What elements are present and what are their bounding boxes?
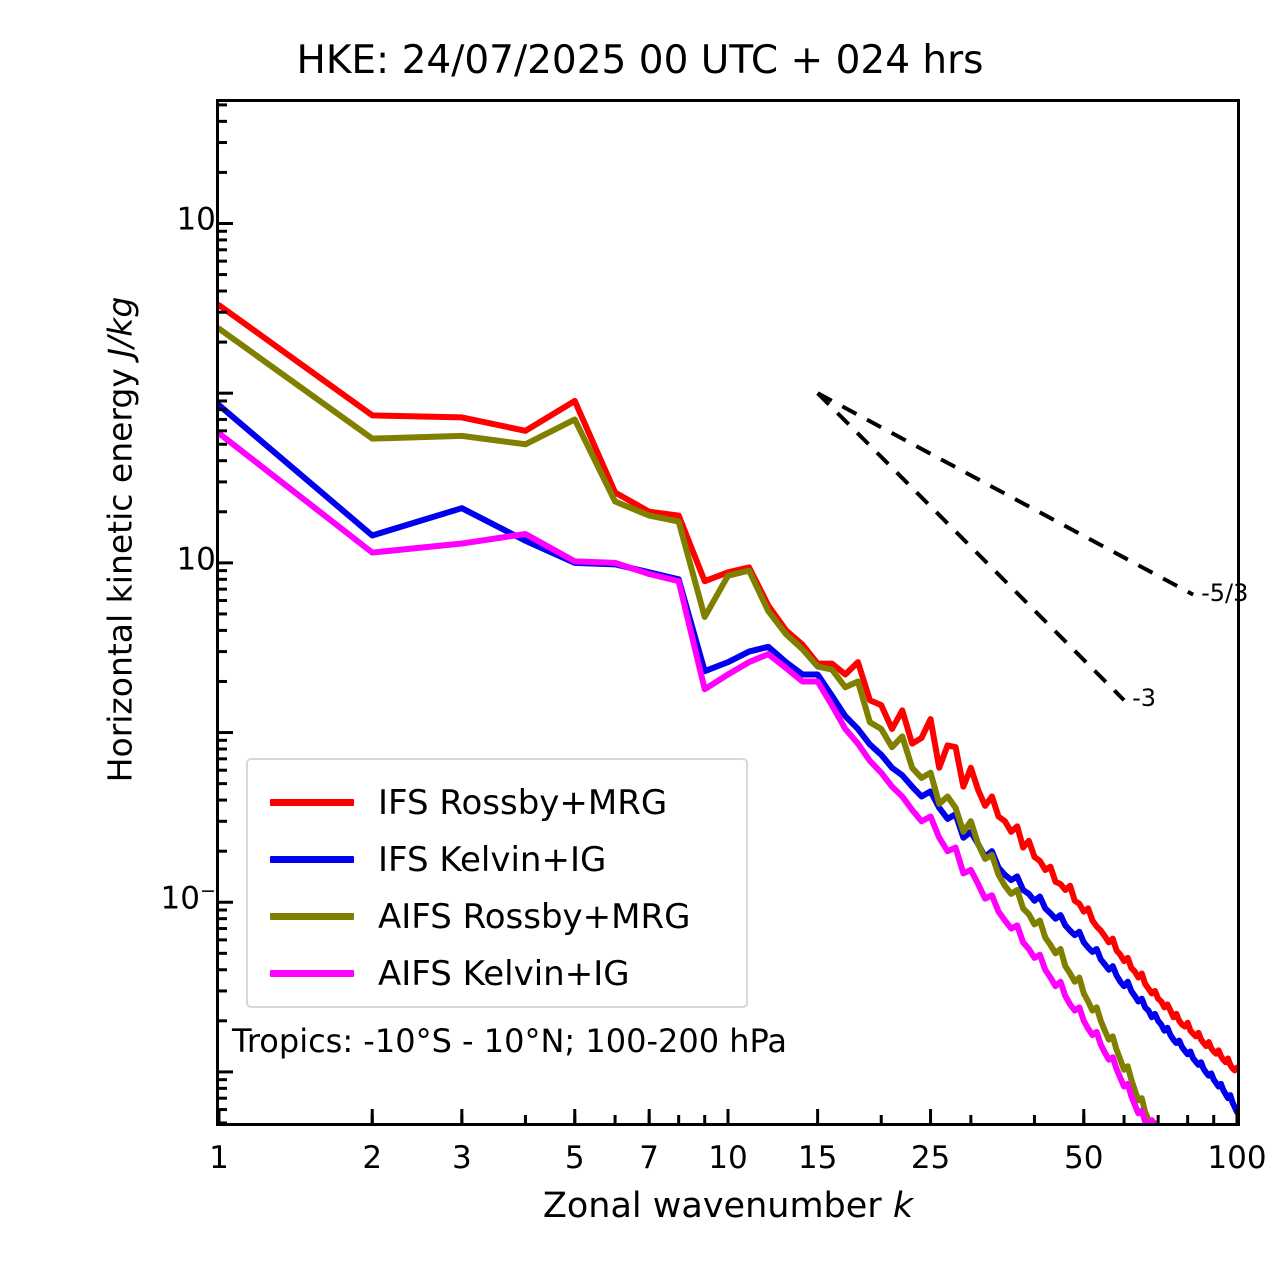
reference-line-1 [818,393,1124,700]
legend-swatch-aifs-rossby-mrg [270,913,354,920]
x-tick-label-3: 5 [540,1140,610,1176]
legend-item-1: IFS Kelvin+IG [248,831,746,888]
slope-label--3: -3 [1132,684,1156,712]
legend-item-3: AIFS Kelvin+IG [248,945,746,1002]
region-annotation: Tropics: -10°S - 10°N; 100-200 hPa [232,1022,787,1060]
x-axis-label: Zonal wavenumber k [216,1186,1240,1226]
x-tick-label-5: 10 [693,1140,763,1176]
chart-title: HKE: 24/07/2025 00 UTC + 024 hrs [0,38,1280,83]
y-axis-label-text: Horizontal kinetic energy [101,358,140,783]
legend-label-ifs-kelvin-ig: IFS Kelvin+IG [378,843,606,877]
legend-label-ifs-rossby-mrg: IFS Rossby+MRG [378,786,667,820]
legend-swatch-ifs-rossby-mrg [270,799,354,806]
x-tick-label-1: 2 [337,1140,407,1176]
x-axis-label-text: Zonal wavenumber [543,1186,893,1226]
legend-item-2: AIFS Rossby+MRG [248,888,746,945]
x-tick-label-9: 100 [1202,1140,1272,1176]
x-tick-label-6: 15 [783,1140,853,1176]
legend-label-aifs-rossby-mrg: AIFS Rossby+MRG [378,900,690,934]
x-tick-label-4: 7 [614,1140,684,1176]
x-tick-label-2: 3 [427,1140,497,1176]
reference-line-0 [818,393,1194,594]
legend-label-aifs-kelvin-ig: AIFS Kelvin+IG [378,957,630,991]
slope-label--5-3: -5/3 [1201,579,1248,607]
legend: IFS Rossby+MRG IFS Kelvin+IG AIFS Rossby… [246,758,748,1008]
y-axis-label-unit: J/kg [101,297,140,358]
x-tick-label-8: 50 [1049,1140,1119,1176]
x-tick-label-7: 25 [896,1140,966,1176]
legend-swatch-ifs-kelvin-ig [270,856,354,863]
x-tick-label-0: 1 [184,1140,254,1176]
y-axis-label: Horizontal kinetic energy J/kg [101,140,140,940]
legend-swatch-aifs-kelvin-ig [270,970,354,977]
x-axis-label-symbol: k [893,1186,913,1226]
chart-root: HKE: 24/07/2025 00 UTC + 024 hrs Horizon… [0,0,1280,1288]
legend-item-0: IFS Rossby+MRG [248,774,746,831]
